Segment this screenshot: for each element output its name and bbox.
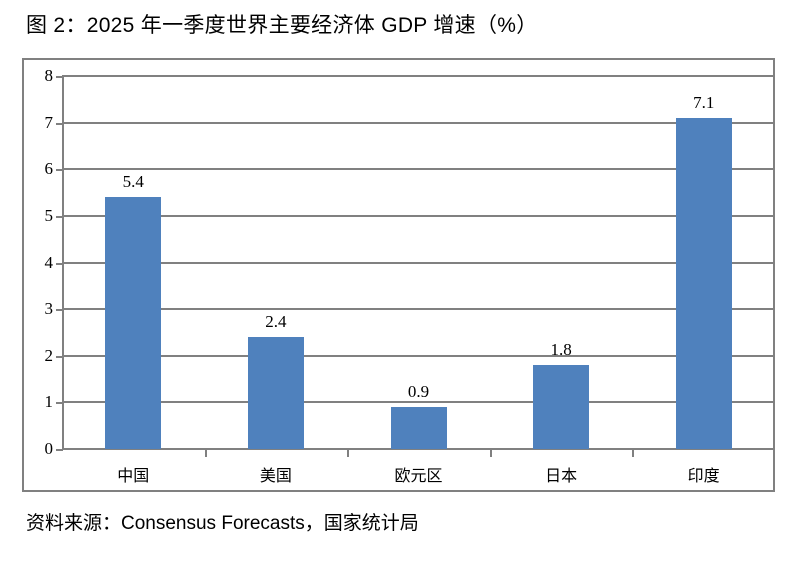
- chart-frame: 012345678 5.42.40.91.87.1 中国美国欧元区日本印度: [22, 58, 775, 492]
- gridline: [62, 168, 775, 170]
- x-axis-tick-mark: [632, 449, 634, 457]
- x-axis-category-label: 印度: [688, 462, 720, 486]
- gridline: [62, 75, 775, 77]
- y-axis-tick-label: 7: [45, 113, 54, 133]
- x-axis-category-label: 中国: [117, 462, 149, 486]
- x-axis-tick-mark: [205, 449, 207, 457]
- y-axis-tick-mark: [56, 169, 63, 171]
- gridline: [62, 122, 775, 124]
- gridline: [62, 308, 775, 310]
- x-axis-category-label: 美国: [260, 462, 292, 486]
- y-axis-tick-label: 0: [45, 439, 54, 459]
- x-axis-category-label: 欧元区: [394, 462, 442, 486]
- y-axis-tick-mark: [56, 449, 63, 451]
- y-axis-tick-mark: [56, 309, 63, 311]
- y-axis-tick-mark: [56, 356, 63, 358]
- y-axis-tick-label: 6: [45, 159, 54, 179]
- y-axis-tick-label: 4: [45, 253, 54, 273]
- bar-value-label: 1.8: [550, 340, 571, 360]
- y-axis-tick-label: 3: [45, 299, 54, 319]
- x-axis-category-label: 日本: [545, 462, 577, 486]
- y-axis-tick-mark: [56, 216, 63, 218]
- bar-value-label: 5.4: [123, 172, 144, 192]
- gridline: [62, 262, 775, 264]
- bar-value-label: 7.1: [693, 93, 714, 113]
- bar[interactable]: 7.1: [676, 118, 732, 449]
- bar[interactable]: 1.8: [533, 365, 589, 449]
- page-title: 图 2：2025 年一季度世界主要经济体 GDP 增速（%）: [26, 12, 538, 40]
- bar[interactable]: 2.4: [248, 337, 304, 449]
- bar[interactable]: 0.9: [391, 407, 447, 449]
- chart-plot-area: 012345678 5.42.40.91.87.1 中国美国欧元区日本印度: [62, 76, 775, 449]
- x-axis-tick-mark: [347, 449, 349, 457]
- bar-value-label: 2.4: [265, 312, 286, 332]
- y-axis-tick-label: 8: [45, 66, 54, 86]
- y-axis-tick-mark: [56, 402, 63, 404]
- y-axis-tick-mark: [56, 123, 63, 125]
- y-axis-tick-label: 1: [45, 392, 54, 412]
- source-note: 资料来源：Consensus Forecasts，国家统计局: [26, 511, 419, 537]
- gridline: [62, 355, 775, 357]
- y-axis-tick-label: 2: [45, 346, 54, 366]
- y-axis-tick-mark: [56, 76, 63, 78]
- bar[interactable]: 5.4: [105, 197, 161, 449]
- x-axis-tick-mark: [490, 449, 492, 457]
- gridline: [62, 215, 775, 217]
- y-axis-tick-label: 5: [45, 206, 54, 226]
- y-axis-tick-mark: [56, 263, 63, 265]
- bar-value-label: 0.9: [408, 382, 429, 402]
